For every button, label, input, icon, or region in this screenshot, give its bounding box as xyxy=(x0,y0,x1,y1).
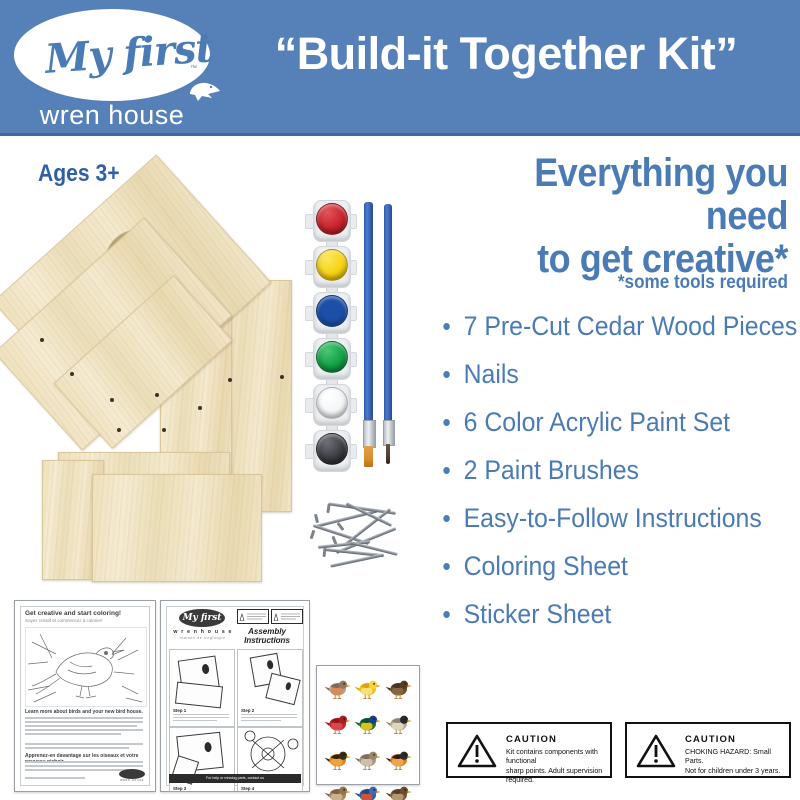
paint-pot-green xyxy=(305,336,357,382)
instruction-step-1-label: Step 1 xyxy=(173,708,186,713)
brand-logo: My first ™ xyxy=(14,9,210,101)
coloring-sheet-body-heading-fr: Apprenez-en davantage sur les oiseaux et… xyxy=(25,753,155,765)
instruction-step-2-label: Step 2 xyxy=(241,708,254,713)
coloring-sheet-heading: Get creative and start coloring! xyxy=(25,610,121,617)
bird-sticker xyxy=(323,778,352,800)
coloring-sheet-body-heading: Learn more about birds and your new bird… xyxy=(25,709,143,715)
paint-pot-white xyxy=(305,382,357,428)
bird-sticker xyxy=(384,778,413,800)
feature-item: Sticker Sheet xyxy=(436,590,767,638)
bird-sticker xyxy=(384,707,413,741)
instruction-sheet-logo: My first xyxy=(179,609,225,627)
trademark-symbol: ™ xyxy=(190,65,197,72)
paint-pot-yellow xyxy=(305,244,357,290)
nails-group xyxy=(310,495,410,575)
caution-body: Kit contains components with functional … xyxy=(506,748,608,786)
bird-sticker xyxy=(353,672,382,706)
caution-title: CAUTION xyxy=(685,734,736,745)
bird-sticker xyxy=(323,743,352,777)
instruction-step-4-label: Step 4 xyxy=(241,786,254,791)
instruction-sheet-brand-fr: maison de troglodyte xyxy=(169,636,237,640)
instruction-step-1: Step 1 xyxy=(169,649,235,727)
kit-title: “Build-it Together Kit” xyxy=(226,28,786,80)
wood-board-front-lower xyxy=(92,474,262,582)
feature-item: Coloring Sheet xyxy=(436,542,767,590)
headline-line-1: Everything you need xyxy=(534,151,788,238)
caution-box-choking-hazard: CAUTION CHOKING HAZARD: Small Parts. Not… xyxy=(625,722,791,778)
bird-sticker xyxy=(353,707,382,741)
product-packaging-panel: My first ™ wren house “Build-it Together… xyxy=(0,0,800,800)
instruction-step-3-label: Step 3 xyxy=(173,786,186,791)
instruction-step-2: Step 2 xyxy=(237,649,303,727)
warning-triangle-icon xyxy=(457,733,497,769)
instruction-sheet-title-fr: Instructions de montage xyxy=(233,636,301,641)
paint-set xyxy=(303,198,359,480)
caution-body: CHOKING HAZARD: Small Parts. Not for chi… xyxy=(685,748,789,776)
bird-sticker xyxy=(353,778,382,800)
paint-pot-blue xyxy=(305,290,357,336)
instruction-sheet: My first w r e n h o u s e maison de tro… xyxy=(160,600,310,792)
paint-pot-black xyxy=(305,428,357,474)
caution-title: CAUTION xyxy=(506,734,557,745)
warning-triangle-icon xyxy=(636,733,676,769)
coloring-sheet: Get creative and start coloring! Soyez c… xyxy=(14,600,156,792)
feature-item: Easy-to-Follow Instructions xyxy=(436,494,767,542)
instruction-sheet-brand: w r e n h o u s e xyxy=(169,629,237,635)
caution-box-sharp-points: CAUTION Kit contains components with fun… xyxy=(446,722,612,778)
wood-pieces-group xyxy=(0,190,300,580)
bird-sticker xyxy=(323,672,352,706)
coloring-sheet-heading-fr: Soyez créatif et commencez à colorier! xyxy=(25,618,103,623)
headline: Everything you need to get creative* xyxy=(460,152,788,281)
paint-brush-flat xyxy=(364,202,373,467)
instruction-sheet-caution-1 xyxy=(237,609,269,624)
paint-brush-round xyxy=(384,204,392,462)
feature-item: Nails xyxy=(436,350,767,398)
bird-sticker xyxy=(353,743,382,777)
bird-sticker xyxy=(384,743,413,777)
bird-sticker xyxy=(323,707,352,741)
bird-sticker xyxy=(384,672,413,706)
header-banner: My first ™ wren house “Build-it Together… xyxy=(0,0,800,136)
sticker-sheet xyxy=(316,665,420,785)
instruction-sheet-caution-2 xyxy=(271,609,303,624)
headline-footnote: *some tools required xyxy=(460,272,788,294)
brand-logo-script: My first xyxy=(43,25,216,83)
feature-item: 7 Pre-Cut Cedar Wood Pieces xyxy=(436,302,767,350)
feature-item: 2 Paint Brushes xyxy=(436,446,767,494)
wren-line-drawing-icon xyxy=(25,627,147,707)
feature-item: 6 Color Acrylic Paint Set xyxy=(436,398,767,446)
brand-logo-subtitle: wren house xyxy=(14,100,210,131)
paint-pot-red xyxy=(305,198,357,244)
feature-list: 7 Pre-Cut Cedar Wood PiecesNails6 Color … xyxy=(436,302,796,638)
ages-label: Ages 3+ xyxy=(38,160,120,188)
instruction-sheet-footer: For help or missing parts, contact us xyxy=(169,774,301,783)
